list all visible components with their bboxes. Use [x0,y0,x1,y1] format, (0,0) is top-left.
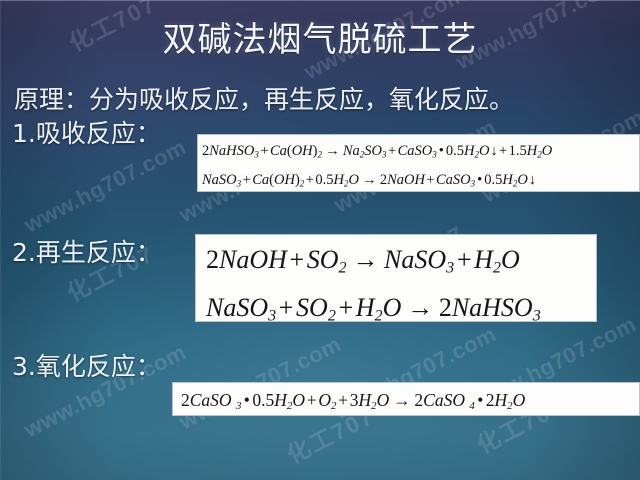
principle-text: 原理：分为吸收反应，再生反应，氧化反应。 [14,84,514,116]
page-title: 双碱法烟气脱硫工艺 [0,20,640,60]
equation-line: NaSO3+Ca(OH)2+0.5H2O→2NaOH+CaSO3•0.5H2O↓ [202,168,639,192]
equation-line: NaSO3+SO2+H2O→2NaHSO3 [206,288,596,323]
slide-content: 双碱法烟气脱硫工艺 原理：分为吸收反应，再生反应，氧化反应。 1.吸收反应： 2… [0,0,640,480]
step-label-absorption: 1.吸收反应： [12,119,161,149]
step-label-regeneration: 2.再生反应： [12,238,161,268]
equation-line: 2NaOH+SO2→NaSO3+H2O [206,240,596,288]
step-label-oxidation: 3.氧化反应： [12,352,161,382]
equation-line: 2CaSO 3•0.5H2O+O2+3H2O→2CaSO 4•2H2O [181,386,639,416]
equation-box-absorption: 2NaHSO3+Ca(OH)2→Na2SO3+CaSO3•0.5H2O↓+1.5… [197,134,640,192]
equation-line: 2NaHSO3+Ca(OH)2→Na2SO3+CaSO3•0.5H2O↓+1.5… [202,139,639,168]
equation-box-oxidation: 2CaSO 3•0.5H2O+O2+3H2O→2CaSO 4•2H2O [172,382,640,416]
equation-box-regeneration: 2NaOH+SO2→NaSO3+H2O NaSO3+SO2+H2O→2NaHSO… [195,234,597,322]
slide-canvas: www.hg707.com www.hg707.com www.hg707.co… [0,0,640,480]
